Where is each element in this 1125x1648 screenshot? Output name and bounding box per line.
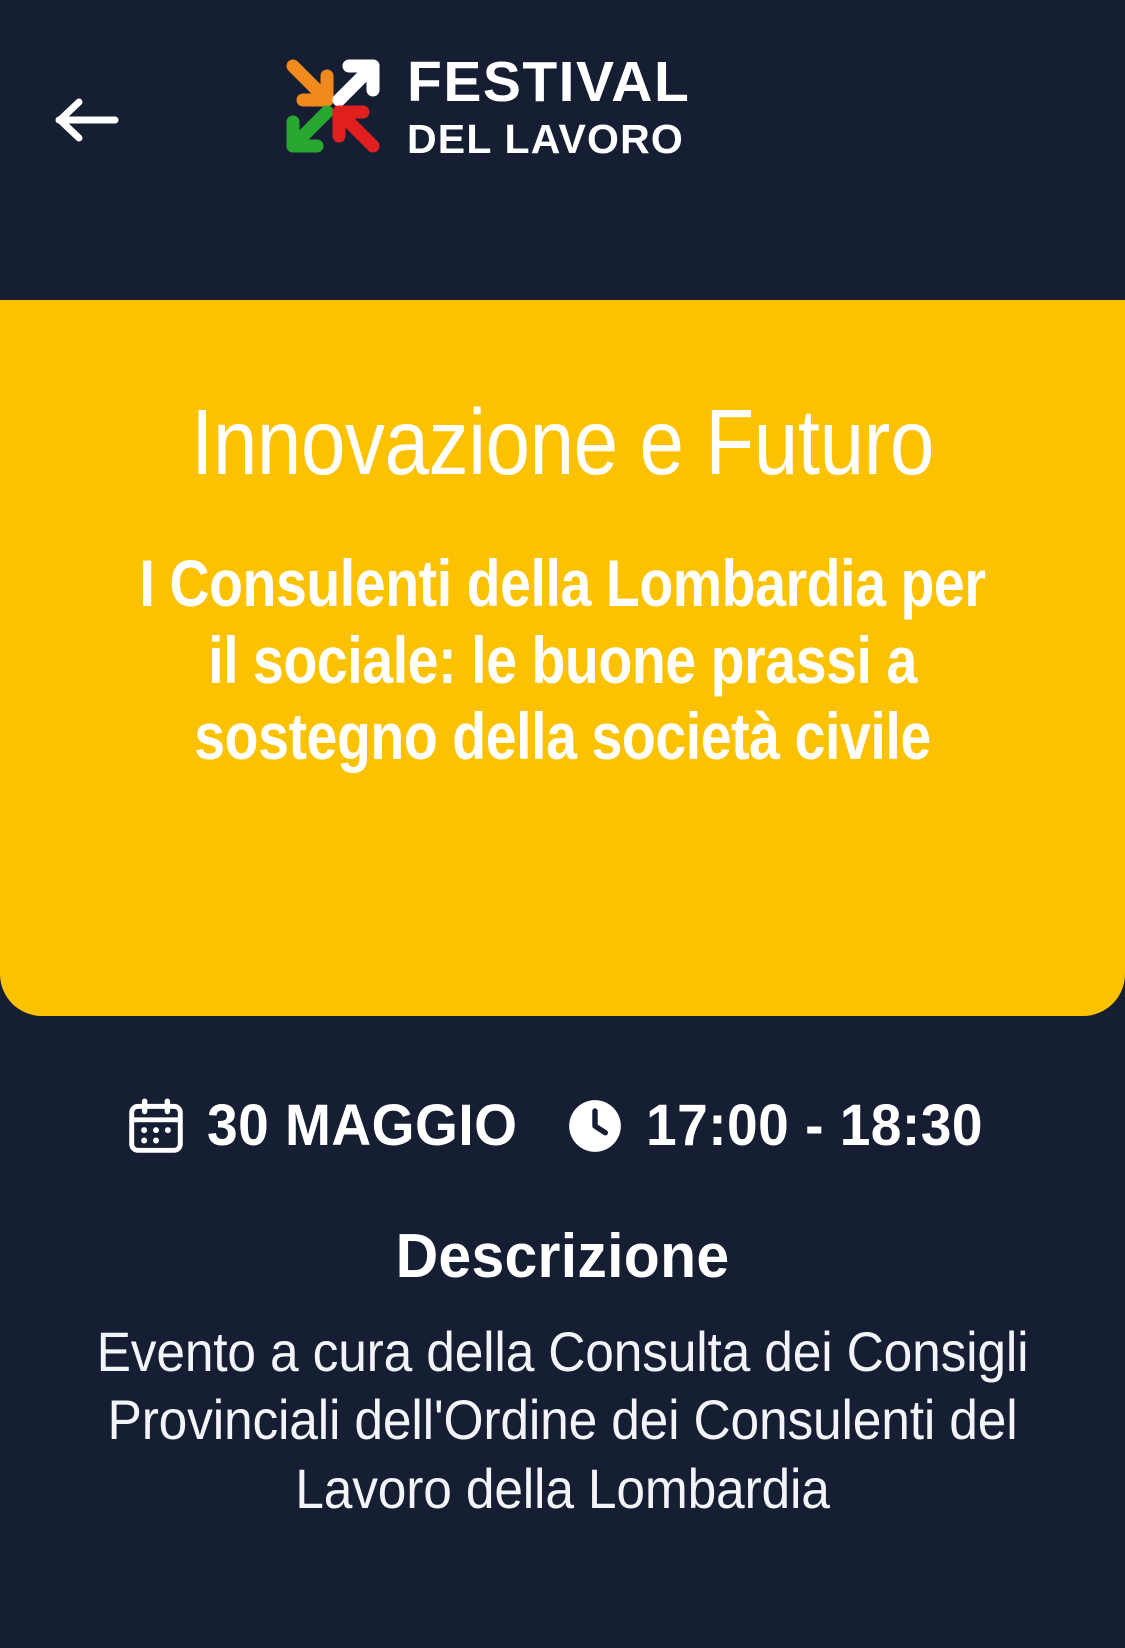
brand-line-festival: FESTIVAL [407, 54, 690, 111]
description-heading: Descrizione [51, 1221, 1074, 1292]
event-date-group: 30 MAGGIO [125, 1092, 534, 1159]
description-section: Descrizione Evento a cura della Consulta… [0, 1221, 1125, 1523]
app-header: FESTIVAL DEL LAVORO [0, 0, 1125, 300]
event-date-text: 30 MAGGIO [207, 1092, 517, 1159]
brand-lockup: FESTIVAL DEL LAVORO [281, 52, 690, 160]
clock-icon [564, 1095, 626, 1157]
back-button[interactable] [30, 78, 140, 162]
event-detail-screen: FESTIVAL DEL LAVORO Innovazione e Futuro… [0, 0, 1125, 1648]
brand-wordmark: FESTIVAL DEL LAVORO [407, 52, 690, 160]
calendar-icon [125, 1095, 187, 1157]
back-arrow-icon [49, 92, 121, 148]
event-meta-row: 30 MAGGIO 17:00 - 18:30 [0, 1092, 1125, 1159]
event-title: Innovazione e Futuro [105, 396, 1021, 489]
event-time-group: 17:00 - 18:30 [564, 1092, 1001, 1159]
festival-pinwheel-logo-icon [281, 54, 385, 158]
description-body: Evento a cura della Consulta dei Consigl… [67, 1318, 1058, 1523]
event-subtitle: I Consulenti della Lombardia per il soci… [115, 545, 1010, 775]
event-time-text: 17:00 - 18:30 [646, 1092, 983, 1159]
event-hero-card: Innovazione e Futuro I Consulenti della … [0, 300, 1125, 1016]
brand-line-del-lavoro: DEL LAVORO [407, 119, 690, 160]
